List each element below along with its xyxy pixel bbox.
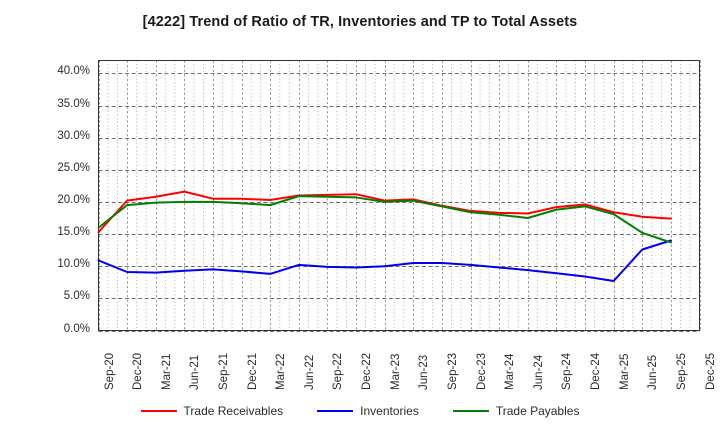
- x-tick-label: Sep-25: [676, 353, 688, 390]
- chart-container: [4222] Trend of Ratio of TR, Inventories…: [0, 0, 720, 440]
- x-tick-label: Mar-25: [619, 354, 631, 390]
- y-tick-label: 35.0%: [20, 98, 90, 110]
- legend-label: Trade Payables: [496, 404, 580, 418]
- x-tick-label: Jun-22: [304, 355, 316, 390]
- x-tick-label: Sep-20: [104, 353, 116, 390]
- x-tick-label: Sep-23: [447, 353, 459, 390]
- grid-minor-lines: [108, 61, 690, 331]
- x-tick-label: Dec-21: [247, 353, 259, 390]
- x-tick-label: Dec-22: [361, 353, 373, 390]
- y-tick-label: 30.0%: [20, 130, 90, 142]
- x-tick-label: Dec-23: [476, 353, 488, 390]
- legend-color-swatch: [141, 410, 177, 412]
- legend-item[interactable]: Inventories: [317, 404, 419, 418]
- x-tick-label: Dec-24: [590, 353, 602, 390]
- y-tick-label: 25.0%: [20, 162, 90, 174]
- x-tick-label: Dec-25: [705, 353, 717, 390]
- y-tick-label: 10.0%: [20, 258, 90, 270]
- x-tick-label: Mar-23: [390, 354, 402, 390]
- x-tick-label: Mar-21: [161, 354, 173, 390]
- x-tick-label: Jun-24: [533, 355, 545, 390]
- x-tick-label: Dec-20: [132, 353, 144, 390]
- x-tick-label: Mar-22: [275, 354, 287, 390]
- x-tick-label: Sep-21: [218, 353, 230, 390]
- x-tick-label: Jun-21: [189, 355, 201, 390]
- y-tick-label: 40.0%: [20, 65, 90, 77]
- y-tick-label: 5.0%: [20, 290, 90, 302]
- y-tick-label: 15.0%: [20, 226, 90, 238]
- x-tick-label: Jun-25: [647, 355, 659, 390]
- grid-major-lines: [99, 61, 701, 332]
- x-tick-label: Mar-24: [504, 354, 516, 390]
- x-tick-label: Jun-23: [418, 355, 430, 390]
- x-tick-label: Sep-24: [561, 353, 573, 390]
- legend-item[interactable]: Trade Payables: [453, 404, 580, 418]
- legend-color-swatch: [317, 410, 353, 412]
- legend-label: Inventories: [360, 404, 419, 418]
- y-tick-label: 0.0%: [20, 323, 90, 335]
- legend-color-swatch: [453, 410, 489, 412]
- chart-legend: Trade ReceivablesInventoriesTrade Payabl…: [0, 404, 720, 418]
- series-line: [99, 192, 671, 233]
- legend-label: Trade Receivables: [184, 404, 284, 418]
- legend-item[interactable]: Trade Receivables: [141, 404, 284, 418]
- y-tick-label: 20.0%: [20, 194, 90, 206]
- x-tick-label: Sep-22: [332, 353, 344, 390]
- plot-frame: [99, 61, 700, 331]
